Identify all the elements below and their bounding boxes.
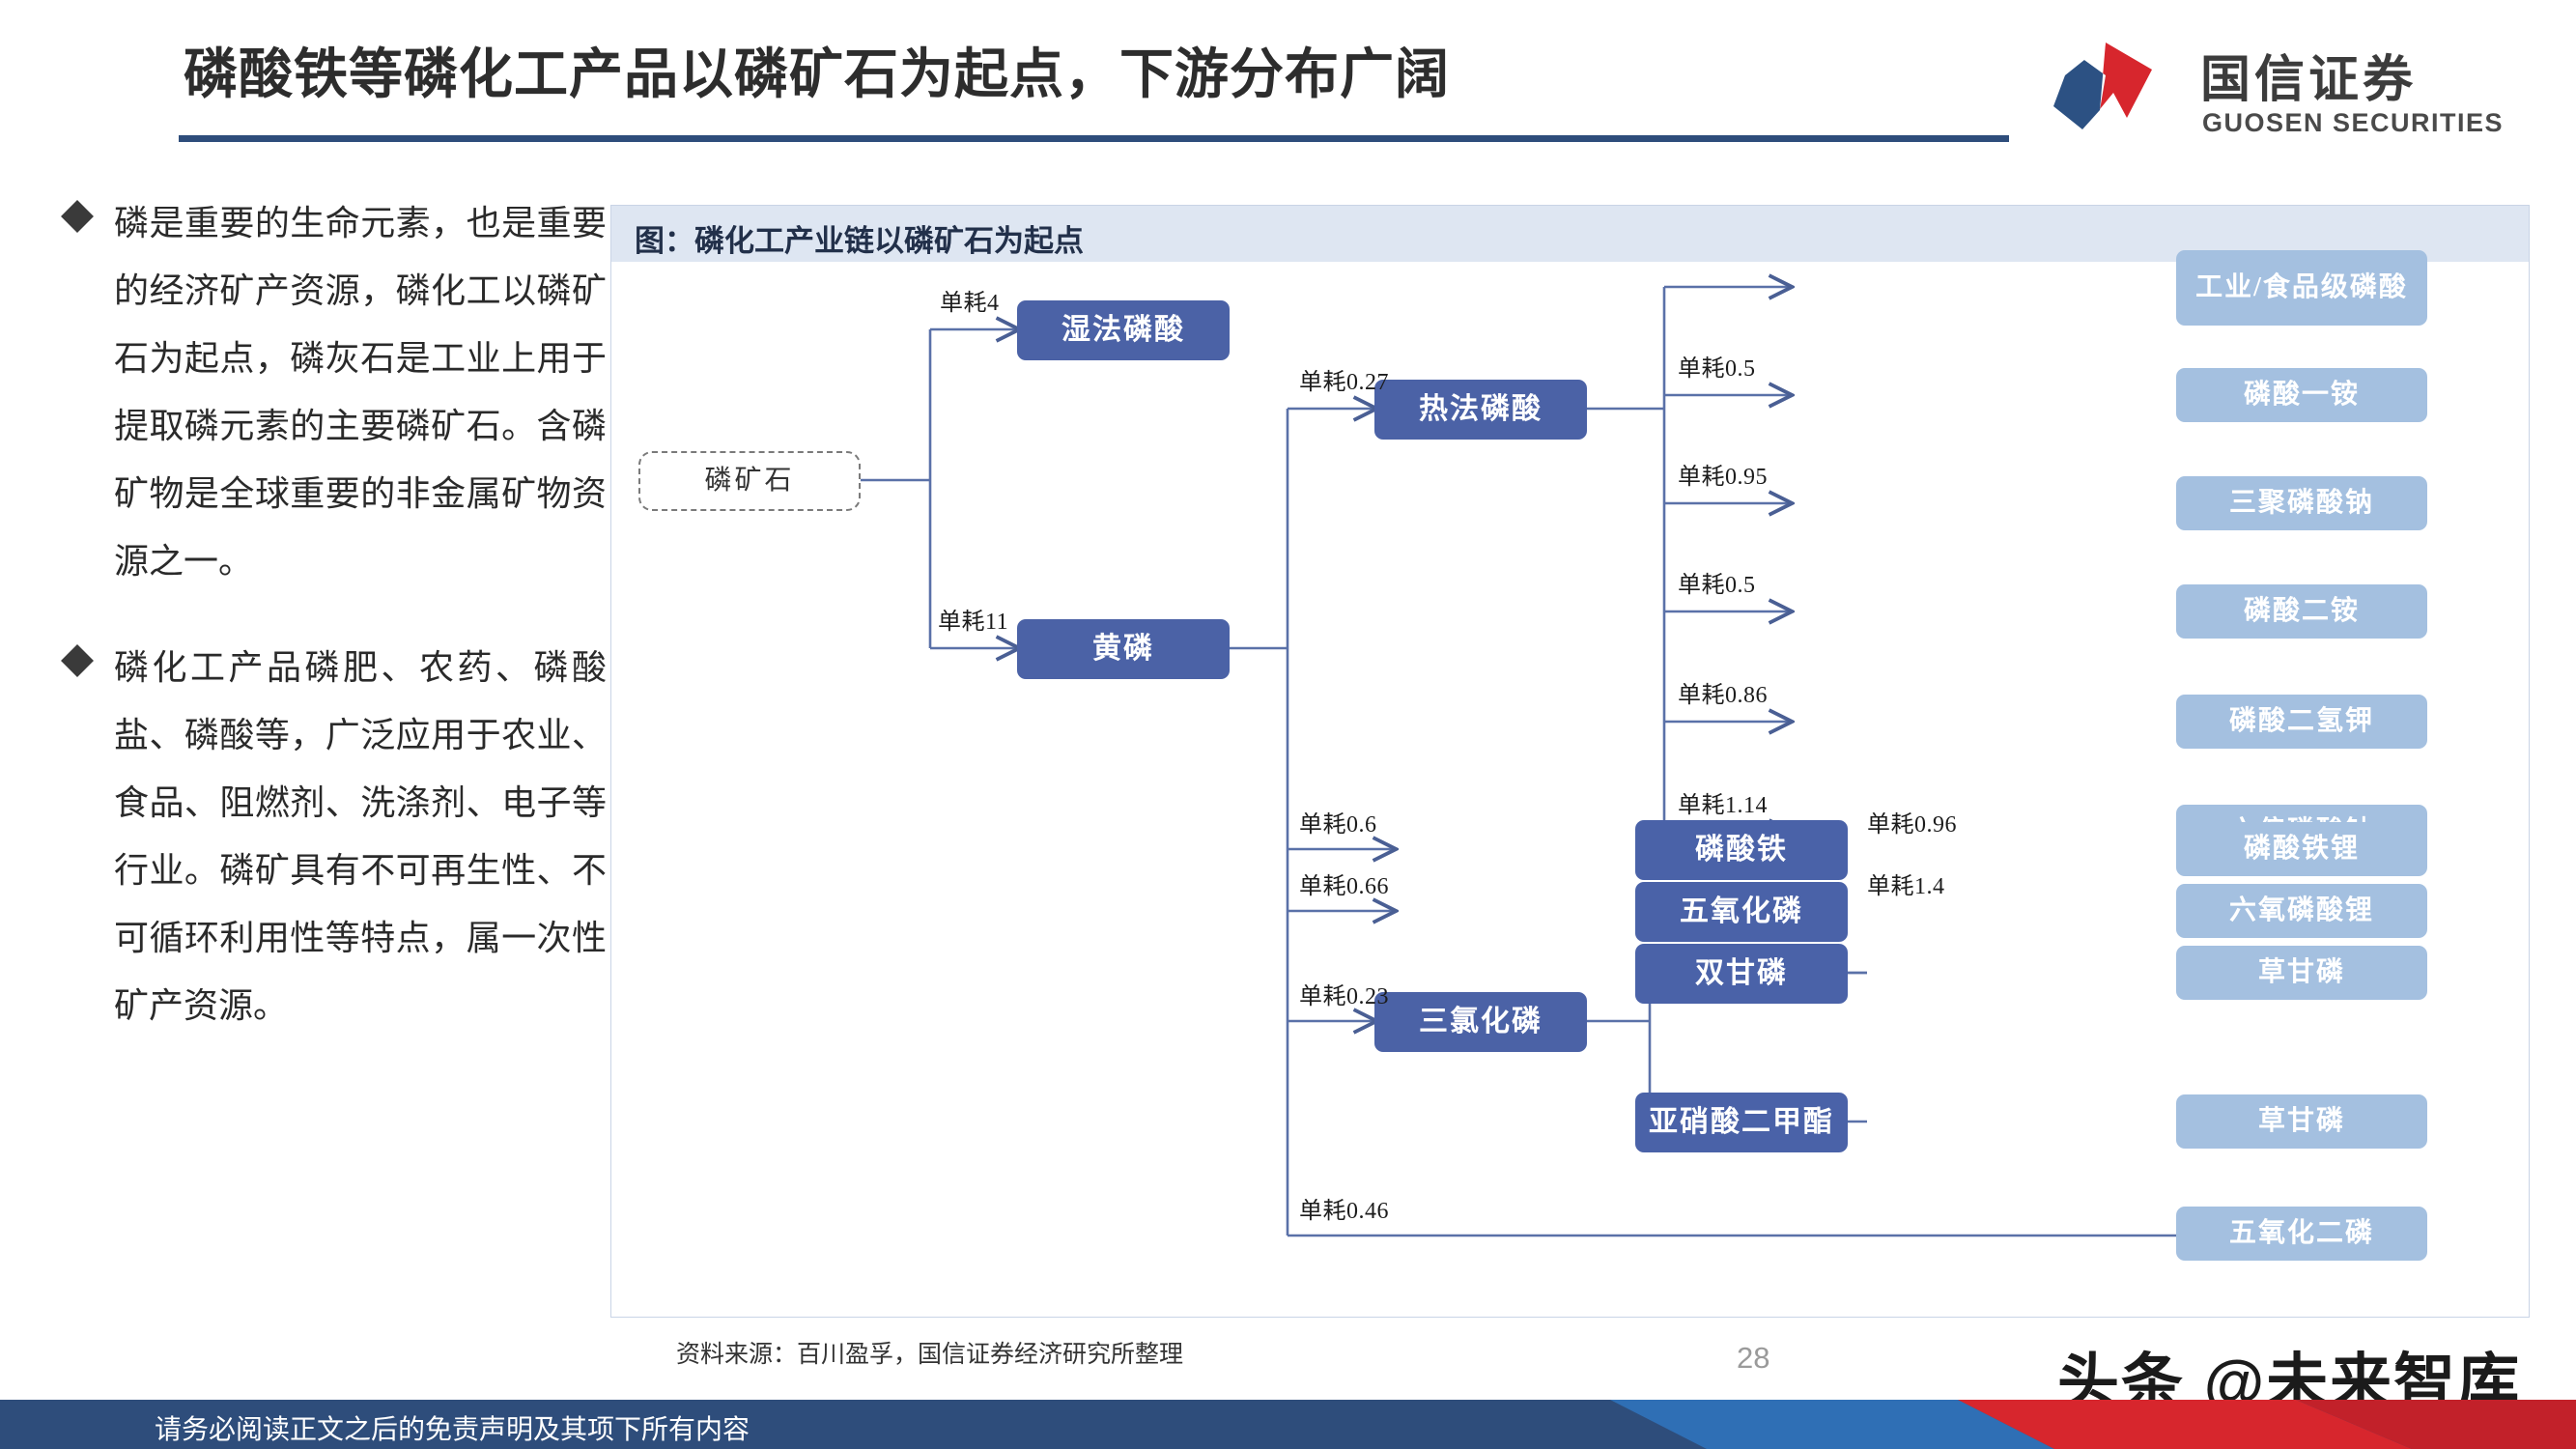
diamond-bullet-icon xyxy=(61,200,94,233)
logo-text-en: GUOSEN SECURITIES xyxy=(2202,108,2504,138)
edge-label-unit-11: 单耗11 xyxy=(938,602,1008,636)
node-wet-phosphoric-acid: 湿法磷酸 xyxy=(1017,300,1230,360)
edge-label-unit-046: 单耗0.46 xyxy=(1299,1191,1389,1225)
figure-caption-text: 图：磷化工产业链以磷矿石为起点 xyxy=(635,216,1084,260)
bullet-item: 磷是重要的生命元素，也是重要的经济矿产资源，磷化工以磷矿石为起点，磷灰石是工业上… xyxy=(66,189,607,595)
node-lithium-iron-phosphate: 磷酸铁锂 xyxy=(2176,822,2427,876)
node-glyphosate-b: 草甘磷 xyxy=(2176,1094,2427,1149)
node-phosphorus-pentoxide: 五氧化磷 xyxy=(1635,882,1848,942)
node-pmida: 双甘磷 xyxy=(1635,944,1848,1004)
source-note: 资料来源：百川盈孚，国信证券经济研究所整理 xyxy=(676,1335,1183,1370)
page-title: 磷酸铁等磷化工产品以磷矿石为起点，下游分布广阔 xyxy=(184,31,1826,109)
figure-panel: 图：磷化工产业链以磷矿石为起点 xyxy=(610,205,2530,1318)
node-mono-ammonium-phosphate: 磷酸一铵 xyxy=(2176,368,2427,422)
bullet-item: 磷化工产品磷肥、农药、磷酸盐、磷酸等，广泛应用于农业、食品、阻燃剂、洗涤剂、电子… xyxy=(66,634,607,1039)
logo-mark-icon xyxy=(2046,37,2171,143)
footer-bar: 请务必阅读正文之后的免责声明及其项下所有内容 xyxy=(0,1400,2576,1449)
footer-disclaimer: 请务必阅读正文之后的免责声明及其项下所有内容 xyxy=(155,1408,750,1447)
slide-header: 磷酸铁等磷化工产品以磷矿石为起点，下游分布广阔 国信证券 GUOSEN SECU… xyxy=(0,0,2576,166)
node-phosphate-ore: 磷矿石 xyxy=(638,451,861,511)
node-yellow-phosphorus: 黄磷 xyxy=(1017,619,1230,679)
node-mono-potassium-phosphate: 磷酸二氢钾 xyxy=(2176,695,2427,749)
edge-label-unit-05b: 单耗0.5 xyxy=(1678,565,1756,599)
node-diphosphorus-pentoxide: 五氧化二磷 xyxy=(2176,1207,2427,1261)
edge-label-unit-4: 单耗4 xyxy=(940,283,1000,317)
bullet-text: 磷化工产品磷肥、农药、磷酸盐、磷酸等，广泛应用于农业、食品、阻燃剂、洗涤剂、电子… xyxy=(114,634,607,1039)
sidebar-text-column: 磷是重要的生命元素，也是重要的经济矿产资源，磷化工以磷矿石为起点，磷灰石是工业上… xyxy=(66,189,607,1078)
logo-text-cn: 国信证券 xyxy=(2200,39,2417,111)
node-dimethyl-nitrite: 亚硝酸二甲酯 xyxy=(1635,1093,1848,1152)
edge-label-unit-086: 单耗0.86 xyxy=(1678,675,1768,709)
flowchart-canvas: 磷矿石 湿法磷酸 黄磷 热法磷酸 三氯化磷 磷酸铁 五氧化磷 双甘磷 亚硝酸二甲… xyxy=(611,262,2529,1315)
node-di-ammonium-phosphate: 磷酸二铵 xyxy=(2176,584,2427,639)
edge-label-unit-05a: 单耗0.5 xyxy=(1678,349,1756,383)
edge-label-unit-095: 单耗0.95 xyxy=(1678,457,1768,491)
footer-decoration xyxy=(1320,1400,2576,1449)
node-thermal-phosphoric-acid: 热法磷酸 xyxy=(1374,380,1587,440)
node-iron-phosphate: 磷酸铁 xyxy=(1635,820,1848,880)
diamond-bullet-icon xyxy=(61,644,94,677)
node-industrial-food-grade-acid: 工业/食品级磷酸 xyxy=(2176,250,2427,326)
edge-label-unit-096: 单耗0.96 xyxy=(1867,805,1957,838)
edge-label-unit-023: 单耗0.23 xyxy=(1299,977,1389,1010)
title-underline xyxy=(179,135,2009,142)
edge-label-unit-14: 单耗1.4 xyxy=(1867,867,1945,900)
node-sodium-tripolyphosphate: 三聚磷酸钠 xyxy=(2176,476,2427,530)
brand-logo: 国信证券 GUOSEN SECURITIES xyxy=(2046,37,2558,143)
page-number: 28 xyxy=(1737,1341,1769,1376)
edge-label-unit-066: 单耗0.66 xyxy=(1299,867,1389,900)
node-glyphosate-a: 草甘磷 xyxy=(2176,946,2427,1000)
node-phosphorus-trichloride: 三氯化磷 xyxy=(1374,992,1587,1052)
edge-label-unit-027: 单耗0.27 xyxy=(1299,362,1389,396)
bullet-text: 磷是重要的生命元素，也是重要的经济矿产资源，磷化工以磷矿石为起点，磷灰石是工业上… xyxy=(114,189,607,595)
edge-label-unit-06: 单耗0.6 xyxy=(1299,805,1377,838)
edge-label-unit-114: 单耗1.14 xyxy=(1678,785,1768,819)
node-lithium-hexafluorophosphate: 六氧磷酸锂 xyxy=(2176,884,2427,938)
